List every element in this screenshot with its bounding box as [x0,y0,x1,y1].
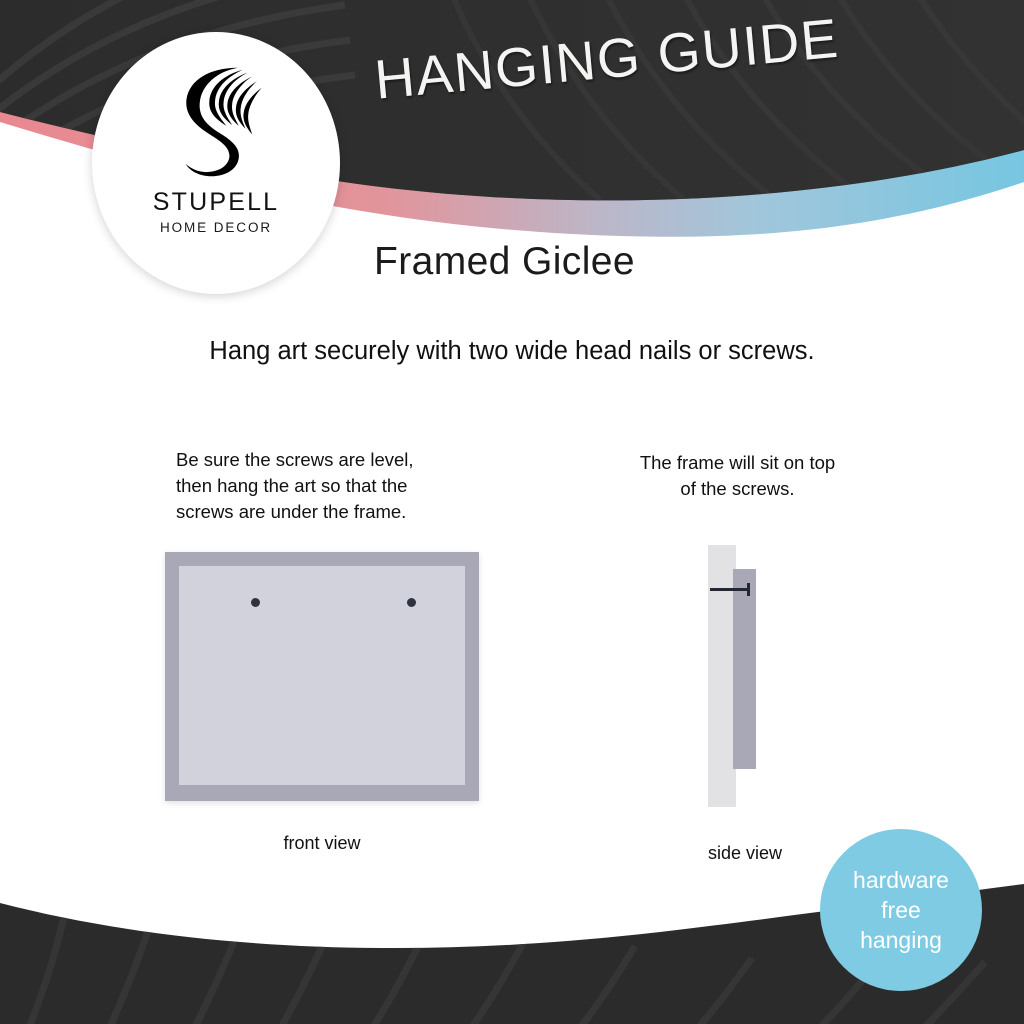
badge-line-1: hardware [853,865,949,895]
front-caption-line-2: then hang the art so that the [176,473,476,499]
screw-dot-right-icon [407,598,416,607]
logo-wordmark: STUPELL [153,188,280,217]
nail-head-icon [747,583,750,596]
side-view-frame [733,569,756,769]
badge-line-2: free [881,895,921,925]
nail-shaft-icon [710,588,750,591]
front-view-frame-diagram [165,552,479,801]
badge-line-3: hanging [860,925,942,955]
side-caption-line-2: of the screws. [600,476,875,502]
main-instruction-text: Hang art securely with two wide head nai… [0,337,1024,366]
front-caption-line-3: screws are under the frame. [176,499,476,525]
product-type-label: Framed Giclee [374,240,635,284]
side-view-frame-diagram [690,545,800,807]
logo-subwordmark: HOME DECOR [160,220,272,235]
stupell-swirl-icon [163,64,269,182]
side-view-caption: The frame will sit on top of the screws. [600,450,875,502]
hardware-free-hanging-badge: hardware free hanging [820,829,982,991]
side-view-wall [708,545,736,807]
side-caption-line-1: The frame will sit on top [600,450,875,476]
front-view-mat [179,566,465,785]
front-view-label: front view [165,833,479,854]
screw-dot-left-icon [251,598,260,607]
front-view-caption: Be sure the screws are level, then hang … [176,447,476,525]
page-title: HANGING GUIDE [372,6,842,112]
hanging-guide-page: STUPELL HOME DECOR HANGING GUIDE Framed … [0,0,1024,1024]
brand-logo-badge: STUPELL HOME DECOR [92,32,340,294]
side-view-label: side view [645,843,845,864]
front-caption-line-1: Be sure the screws are level, [176,447,476,473]
